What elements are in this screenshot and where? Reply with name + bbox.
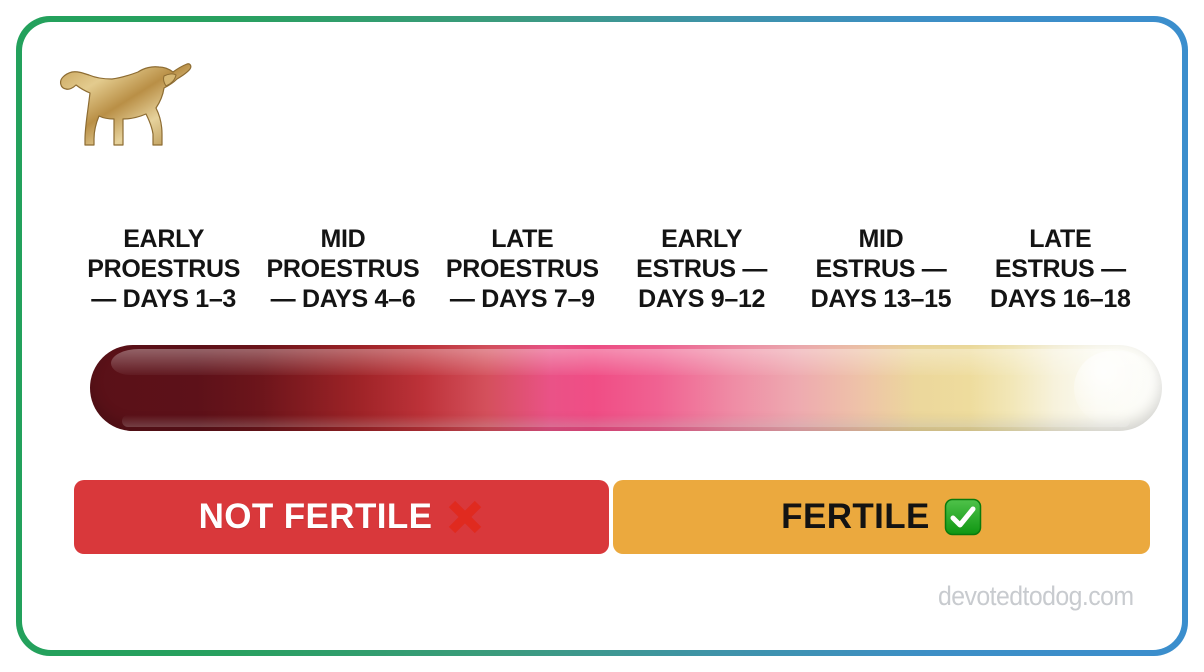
stage-line-3: — DAYS 7–9 [437, 284, 608, 314]
stage-line-2: PROESTRUS [78, 254, 249, 284]
not-fertile-bar: NOT FERTILE [74, 480, 609, 554]
cycle-stage-labels: EARLY PROESTRUS — DAYS 1–3 MID PROESTRUS… [74, 224, 1150, 314]
stage-line-3: DAYS 13–15 [795, 284, 966, 314]
stage-line-1: EARLY [78, 224, 249, 254]
stage-line-2: PROESTRUS [257, 254, 428, 284]
stage-label-late-proestrus: LATE PROESTRUS — DAYS 7–9 [433, 224, 612, 314]
stage-label-early-proestrus: EARLY PROESTRUS — DAYS 1–3 [74, 224, 253, 314]
stage-line-3: DAYS 16–18 [975, 284, 1146, 314]
stage-line-2: ESTRUS — [795, 254, 966, 284]
stage-label-early-estrus: EARLY ESTRUS — DAYS 9–12 [612, 224, 791, 314]
card-inner: EARLY PROESTRUS — DAYS 1–3 MID PROESTRUS… [22, 22, 1182, 650]
stage-label-mid-proestrus: MID PROESTRUS — DAYS 4–6 [253, 224, 432, 314]
fertile-bar: FERTILE [613, 480, 1150, 554]
golden-retriever-dog-silhouette-icon [56, 52, 196, 152]
stage-line-1: EARLY [616, 224, 787, 254]
site-watermark: devotedtodog.com [938, 581, 1134, 612]
infographic-card: EARLY PROESTRUS — DAYS 1–3 MID PROESTRUS… [16, 16, 1188, 656]
stage-line-1: MID [795, 224, 966, 254]
stage-label-mid-estrus: MID ESTRUS — DAYS 13–15 [791, 224, 970, 314]
stage-line-3: — DAYS 1–3 [78, 284, 249, 314]
stage-line-3: DAYS 9–12 [616, 284, 787, 314]
check-mark-button-icon [944, 498, 982, 536]
fertile-label: FERTILE [781, 497, 930, 537]
bar-gloss-highlight [1074, 351, 1158, 425]
cross-mark-icon [446, 498, 484, 536]
stage-line-2: ESTRUS — [616, 254, 787, 284]
discharge-gradient-pill [90, 345, 1162, 431]
stage-line-2: PROESTRUS [437, 254, 608, 284]
fertility-bars: NOT FERTILE FERTILE [74, 480, 1150, 554]
discharge-color-bar [74, 345, 1150, 431]
stage-line-1: LATE [437, 224, 608, 254]
stage-line-1: LATE [975, 224, 1146, 254]
stage-label-late-estrus: LATE ESTRUS — DAYS 16–18 [971, 224, 1150, 314]
stage-line-1: MID [257, 224, 428, 254]
not-fertile-label: NOT FERTILE [199, 497, 433, 537]
stage-line-2: ESTRUS — [975, 254, 1146, 284]
stage-line-3: — DAYS 4–6 [257, 284, 428, 314]
